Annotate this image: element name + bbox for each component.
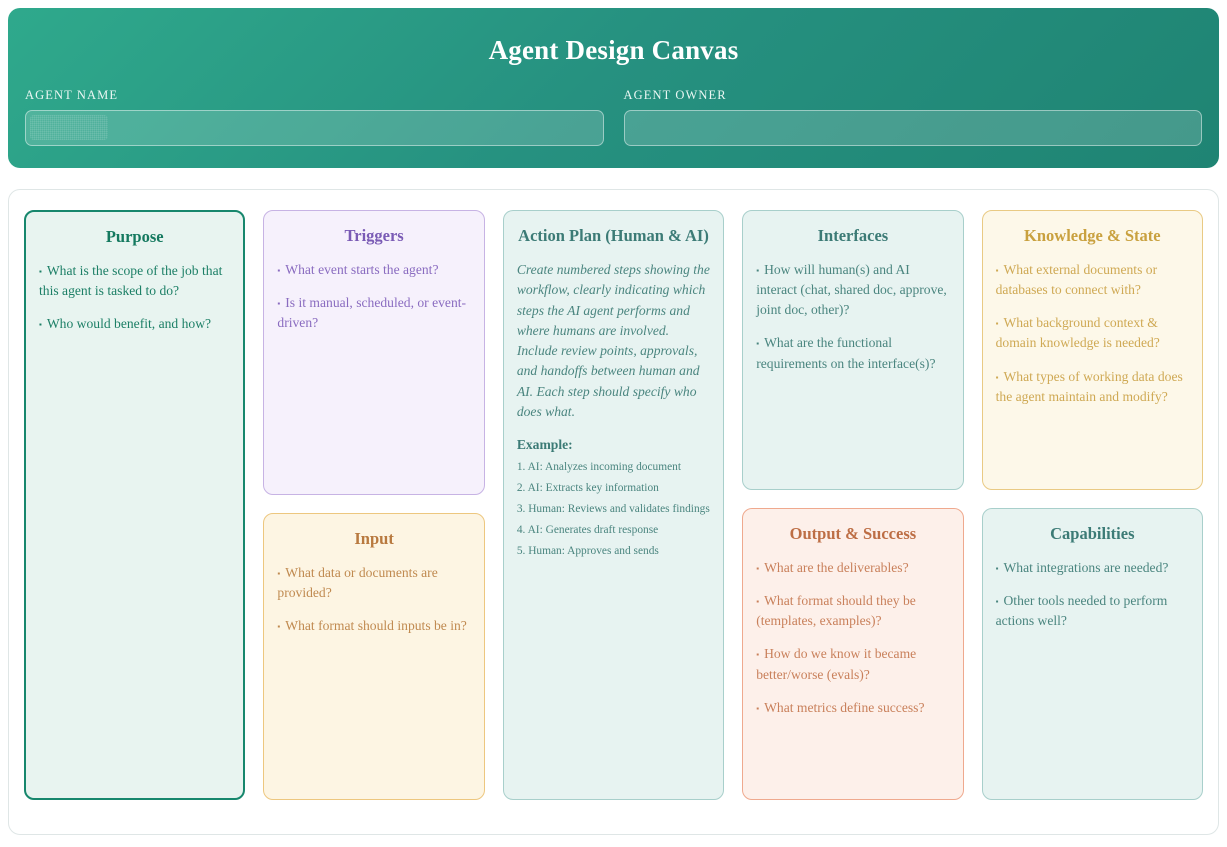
card-output-success-title: Output & Success bbox=[756, 523, 949, 544]
card-output-success[interactable]: Output & Success What are the deliverabl… bbox=[742, 508, 963, 800]
card-interfaces-title: Interfaces bbox=[756, 225, 949, 246]
agent-name-input[interactable] bbox=[25, 110, 604, 146]
canvas-board: Purpose What is the scope of the job tha… bbox=[8, 189, 1219, 835]
bullet-item: What metrics define success? bbox=[756, 698, 949, 718]
card-triggers-bullets: What event starts the agent? Is it manua… bbox=[277, 260, 470, 333]
card-input[interactable]: Input What data or documents are provide… bbox=[263, 513, 484, 800]
agent-owner-label: AGENT OWNER bbox=[624, 88, 1203, 103]
bullet-item: What are the deliverables? bbox=[756, 558, 949, 578]
bullet-item: What event starts the agent? bbox=[277, 260, 470, 280]
example-step: 3. Human: Reviews and validates findings bbox=[517, 502, 710, 518]
agent-owner-input[interactable] bbox=[624, 110, 1203, 146]
card-knowledge-state-title: Knowledge & State bbox=[996, 225, 1189, 246]
card-action-plan-example-steps: 1. AI: Analyzes incoming document 2. AI:… bbox=[517, 460, 710, 560]
card-capabilities-bullets: What integrations are needed? Other tool… bbox=[996, 558, 1189, 631]
example-step: 5. Human: Approves and sends bbox=[517, 544, 710, 560]
bullet-item: Is it manual, scheduled, or event-driven… bbox=[277, 293, 470, 333]
bullet-item: What format should inputs be in? bbox=[277, 616, 470, 636]
card-capabilities[interactable]: Capabilities What integrations are neede… bbox=[982, 508, 1203, 800]
bullet-item: What data or documents are provided? bbox=[277, 563, 470, 603]
card-knowledge-state-bullets: What external documents or databases to … bbox=[996, 260, 1189, 407]
page-title: Agent Design Canvas bbox=[8, 8, 1219, 66]
card-interfaces-bullets: How will human(s) and AI interact (chat,… bbox=[756, 260, 949, 374]
card-interfaces[interactable]: Interfaces How will human(s) and AI inte… bbox=[742, 210, 963, 490]
card-action-plan-example-heading: Example: bbox=[517, 437, 710, 453]
agent-name-label: AGENT NAME bbox=[25, 88, 604, 103]
header-fields: AGENT NAME AGENT OWNER bbox=[8, 66, 1219, 146]
bullet-item: What external documents or databases to … bbox=[996, 260, 1189, 300]
card-input-title: Input bbox=[277, 528, 470, 549]
card-purpose-bullets: What is the scope of the job that this a… bbox=[39, 261, 230, 334]
bullet-item: How will human(s) and AI interact (chat,… bbox=[756, 260, 949, 320]
agent-design-canvas: Agent Design Canvas AGENT NAME AGENT OWN… bbox=[0, 0, 1227, 847]
agent-name-field-group: AGENT NAME bbox=[25, 88, 604, 146]
card-triggers[interactable]: Triggers What event starts the agent? Is… bbox=[263, 210, 484, 495]
agent-name-input-wrap bbox=[25, 110, 604, 146]
bullet-item: What background context & domain knowled… bbox=[996, 313, 1189, 353]
bullet-item: What are the functional requirements on … bbox=[756, 333, 949, 373]
card-knowledge-state[interactable]: Knowledge & State What external document… bbox=[982, 210, 1203, 490]
bullet-item: What is the scope of the job that this a… bbox=[39, 261, 230, 301]
column-triggers-input: Triggers What event starts the agent? Is… bbox=[263, 210, 484, 814]
card-output-success-bullets: What are the deliverables? What format s… bbox=[756, 558, 949, 718]
column-interfaces-output: Interfaces How will human(s) and AI inte… bbox=[742, 210, 963, 814]
card-triggers-title: Triggers bbox=[277, 225, 470, 246]
bullet-item: How do we know it became better/worse (e… bbox=[756, 644, 949, 684]
column-knowledge-capabilities: Knowledge & State What external document… bbox=[982, 210, 1203, 814]
agent-owner-field-group: AGENT OWNER bbox=[624, 88, 1203, 146]
card-capabilities-title: Capabilities bbox=[996, 523, 1189, 544]
card-action-plan[interactable]: Action Plan (Human & AI) Create numbered… bbox=[503, 210, 724, 800]
bullet-item: What format should they be (templates, e… bbox=[756, 591, 949, 631]
bullet-item: What types of working data does the agen… bbox=[996, 367, 1189, 407]
example-step: 1. AI: Analyzes incoming document bbox=[517, 460, 710, 476]
bullet-item: Other tools needed to perform actions we… bbox=[996, 591, 1189, 631]
card-action-plan-body: Create numbered steps showing the workfl… bbox=[517, 260, 710, 422]
example-step: 2. AI: Extracts key information bbox=[517, 481, 710, 497]
canvas-header: Agent Design Canvas AGENT NAME AGENT OWN… bbox=[8, 8, 1219, 168]
bullet-item: Who would benefit, and how? bbox=[39, 314, 230, 334]
card-purpose-title: Purpose bbox=[39, 226, 230, 247]
column-action-plan: Action Plan (Human & AI) Create numbered… bbox=[503, 210, 724, 814]
card-action-plan-title: Action Plan (Human & AI) bbox=[517, 225, 710, 246]
example-step: 4. AI: Generates draft response bbox=[517, 523, 710, 539]
agent-owner-input-wrap bbox=[624, 110, 1203, 146]
card-input-bullets: What data or documents are provided? Wha… bbox=[277, 563, 470, 636]
column-purpose: Purpose What is the scope of the job tha… bbox=[24, 210, 245, 814]
card-purpose[interactable]: Purpose What is the scope of the job tha… bbox=[24, 210, 245, 800]
bullet-item: What integrations are needed? bbox=[996, 558, 1189, 578]
